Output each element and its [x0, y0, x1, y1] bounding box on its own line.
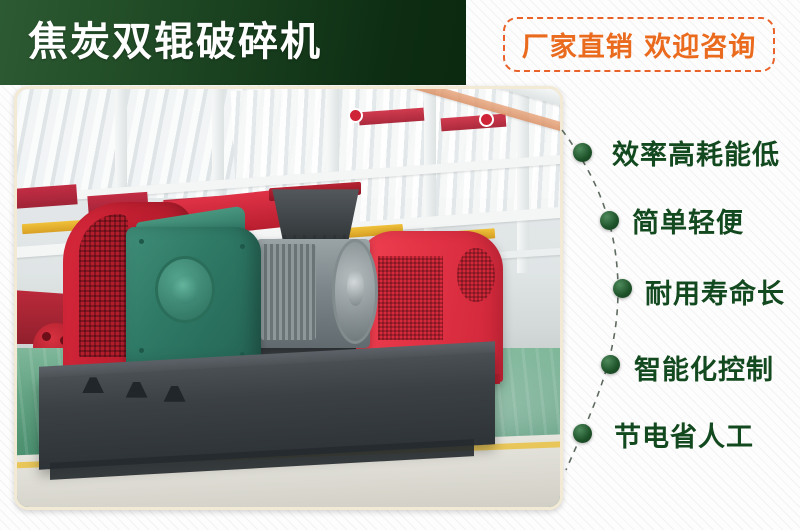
- feature-bullet-icon: [601, 355, 620, 374]
- guard-mesh-panel: [378, 256, 443, 340]
- crusher-machine: [17, 89, 560, 507]
- product-photo[interactable]: [14, 86, 563, 510]
- machine-hood-mesh: [79, 214, 128, 356]
- feature-bullet-icon: [613, 279, 632, 298]
- feature-item-5: 节电省人工: [614, 415, 754, 454]
- promo-badge-label: 厂家直销 欢迎咨询: [522, 25, 756, 64]
- promo-badge[interactable]: 厂家直销 欢迎咨询: [503, 17, 775, 72]
- feature-item-1: 效率高耗能低: [612, 133, 780, 172]
- feature-bullet-icon: [573, 424, 592, 443]
- page-title: 焦炭双辊破碎机: [28, 16, 322, 68]
- product-photo-inner: [17, 89, 560, 507]
- feature-bullet-icon: [600, 211, 619, 230]
- poster-root: 焦炭双辊破碎机 厂家直销 欢迎咨询: [0, 0, 800, 530]
- motor-cooling-fins: [261, 244, 315, 340]
- guard-vent-circle: [457, 248, 495, 302]
- feature-item-4: 智能化控制: [634, 348, 774, 387]
- feature-item-2: 简单轻便: [632, 201, 744, 240]
- gearbox-bolt: [240, 244, 245, 249]
- gearbox-shaft-hub: [172, 275, 199, 304]
- feature-bullet-icon: [573, 143, 592, 162]
- feed-hopper: [272, 189, 359, 239]
- motor-fan-hub: [347, 269, 364, 307]
- feature-item-3: 耐用寿命长: [645, 272, 785, 311]
